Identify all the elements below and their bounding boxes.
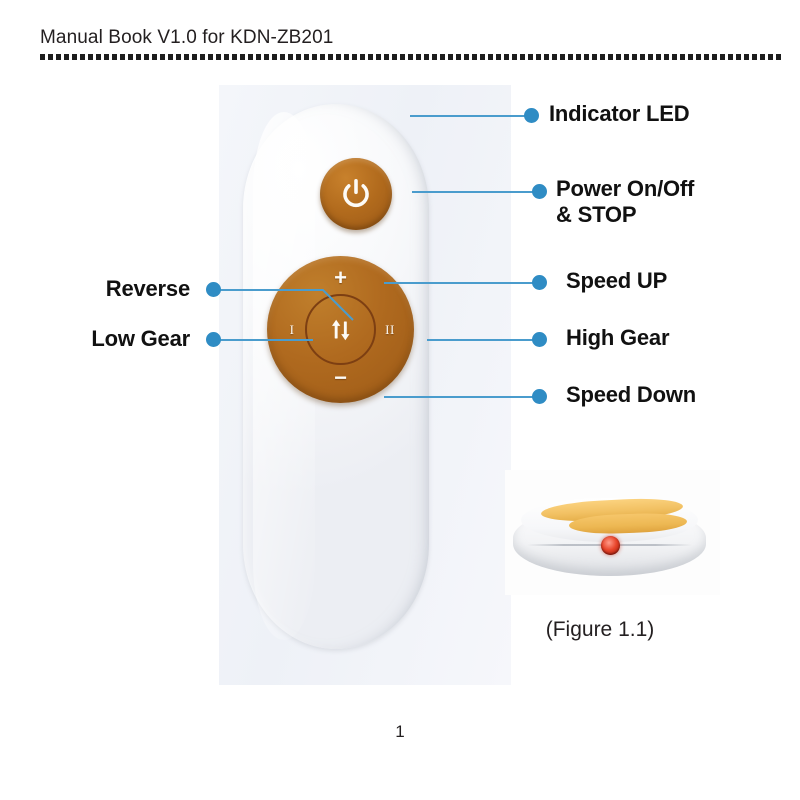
callout-speed-down-label: Speed Down bbox=[566, 382, 696, 408]
leader-dot-high-gear bbox=[532, 332, 547, 347]
indicator-led bbox=[601, 536, 620, 555]
callout-power-label-line1: Power On/Off bbox=[556, 176, 694, 202]
callout-low-gear: Low Gear bbox=[91, 326, 190, 352]
gear-two-button[interactable]: II bbox=[379, 322, 401, 338]
callout-indicator-led: Indicator LED bbox=[549, 101, 689, 127]
power-icon bbox=[339, 177, 373, 211]
callout-power: Power On/Off & STOP bbox=[556, 176, 694, 228]
callout-power-label-line2: & STOP bbox=[556, 202, 694, 228]
header-divider bbox=[40, 54, 782, 61]
leader-dot-indicator-led bbox=[524, 108, 539, 123]
callout-reverse: Reverse bbox=[106, 276, 190, 302]
leader-line-power bbox=[412, 191, 536, 193]
remote-side-view bbox=[513, 492, 706, 578]
callout-high-gear: High Gear bbox=[566, 325, 669, 351]
callout-speed-down: Speed Down bbox=[566, 382, 696, 408]
leader-dot-low-gear bbox=[206, 332, 221, 347]
callout-speed-up-label: Speed UP bbox=[566, 268, 667, 294]
leader-line-high-gear bbox=[427, 339, 537, 341]
callout-speed-up: Speed UP bbox=[566, 268, 667, 294]
leader-line-reverse bbox=[213, 282, 363, 342]
leader-line-speed-down bbox=[384, 396, 536, 398]
leader-line-low-gear bbox=[218, 339, 313, 341]
page-title: Manual Book V1.0 for KDN-ZB201 bbox=[40, 26, 780, 50]
leader-line-speed-up bbox=[384, 282, 536, 284]
callout-indicator-led-label: Indicator LED bbox=[549, 101, 689, 127]
callout-reverse-label: Reverse bbox=[106, 276, 190, 302]
leader-dot-power bbox=[532, 184, 547, 199]
leader-dot-speed-up bbox=[532, 275, 547, 290]
minus-button[interactable]: − bbox=[267, 367, 414, 389]
callout-high-gear-label: High Gear bbox=[566, 325, 669, 351]
power-button[interactable] bbox=[320, 158, 392, 230]
page-number: 1 bbox=[0, 722, 800, 742]
leader-dot-reverse bbox=[206, 282, 221, 297]
figure-caption: (Figure 1.1) bbox=[500, 618, 700, 642]
leader-dot-speed-down bbox=[532, 389, 547, 404]
document-header: Manual Book V1.0 for KDN-ZB201 bbox=[40, 26, 780, 61]
callout-low-gear-label: Low Gear bbox=[91, 326, 190, 352]
leader-line-indicator-led bbox=[410, 115, 528, 117]
